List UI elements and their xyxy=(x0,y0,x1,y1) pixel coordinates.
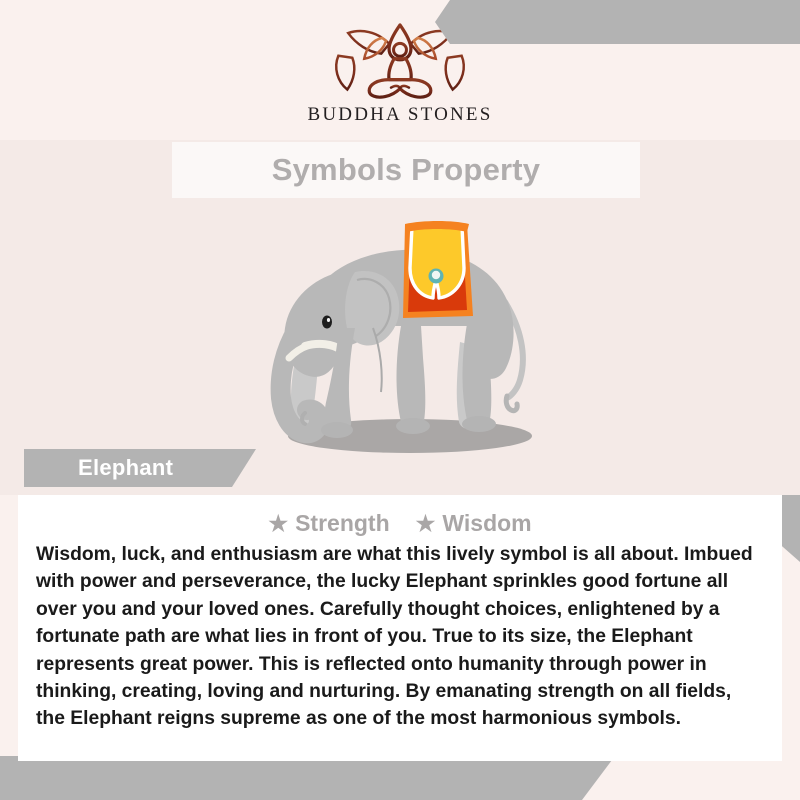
trait-wisdom: ★ Wisdom xyxy=(416,510,532,537)
brand-name: BUDDHA STONES xyxy=(307,104,492,126)
star-icon: ★ xyxy=(268,513,288,535)
star-icon: ★ xyxy=(416,513,436,535)
decor-band-bottom-left xyxy=(0,760,612,800)
symbol-property-card: BUDDHA STONES Symbols Property xyxy=(0,0,800,800)
title-band: Symbols Property xyxy=(172,142,640,198)
page-title: Symbols Property xyxy=(272,152,541,188)
trait-list: ★ Strength ★ Wisdom xyxy=(18,495,782,537)
decor-band-bottom-strip xyxy=(0,756,18,800)
symbol-label-banner: Elephant xyxy=(24,449,256,487)
elephant-illustration-icon xyxy=(205,210,595,460)
description-panel: ★ Strength ★ Wisdom Wisdom, luck, and en… xyxy=(18,495,782,761)
trait-strength: ★ Strength xyxy=(268,510,389,537)
symbol-label: Elephant xyxy=(24,455,173,481)
trait-wisdom-label: Wisdom xyxy=(442,510,531,537)
symbol-description: Wisdom, luck, and enthusiasm are what th… xyxy=(18,537,782,733)
decor-band-top-right xyxy=(420,0,800,44)
trait-strength-label: Strength xyxy=(295,510,390,537)
